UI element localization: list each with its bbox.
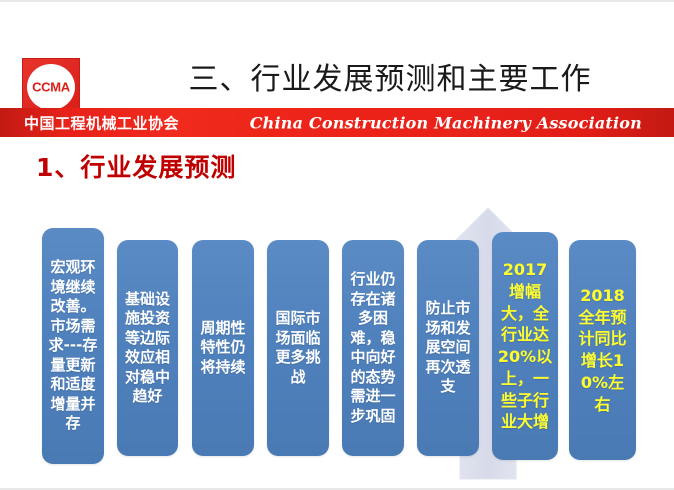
box-industry-difficulties-label: 行业仍存在诸多困难，稳中向好的态势需进一步巩固: [342, 270, 404, 426]
box-infrastructure-investment[interactable]: 基础设施投资等边际效应相对稳中趋好: [117, 240, 178, 456]
box-2018-forecast[interactable]: 2018全年预计同比增长10%左右: [569, 240, 636, 460]
box-international-market-label: 国际市场面临更多挑战: [267, 309, 329, 387]
slide-canvas: CCMA 三、行业发展预测和主要工作 中国工程机械工业协会 China Cons…: [0, 0, 674, 490]
forecast-box-row: 宏观环境继续改善。市场需求---存量更新和适度增量并存 基础设施投资等边际效应相…: [0, 0, 674, 490]
box-prevent-overdraft-label: 防止市场和发展空间再次透支: [417, 299, 479, 397]
box-international-market[interactable]: 国际市场面临更多挑战: [267, 240, 329, 456]
box-industry-difficulties[interactable]: 行业仍存在诸多困难，稳中向好的态势需进一步巩固: [342, 240, 404, 456]
box-2017-growth-label: 2017增幅大，全行业达20%以上，一些子行业大增: [492, 259, 558, 433]
box-2017-growth[interactable]: 2017增幅大，全行业达20%以上，一些子行业大增: [492, 232, 558, 460]
box-macro-environment[interactable]: 宏观环境继续改善。市场需求---存量更新和适度增量并存: [42, 228, 104, 464]
box-infrastructure-investment-label: 基础设施投资等边际效应相对稳中趋好: [117, 290, 178, 407]
box-2018-forecast-label: 2018全年预计同比增长10%左右: [569, 285, 636, 416]
box-cyclical-characteristics[interactable]: 周期性特性仍将持续: [192, 240, 254, 456]
box-prevent-overdraft[interactable]: 防止市场和发展空间再次透支: [417, 240, 479, 456]
box-macro-environment-label: 宏观环境继续改善。市场需求---存量更新和适度增量并存: [42, 258, 104, 434]
box-cyclical-characteristics-label: 周期性特性仍将持续: [192, 319, 254, 378]
